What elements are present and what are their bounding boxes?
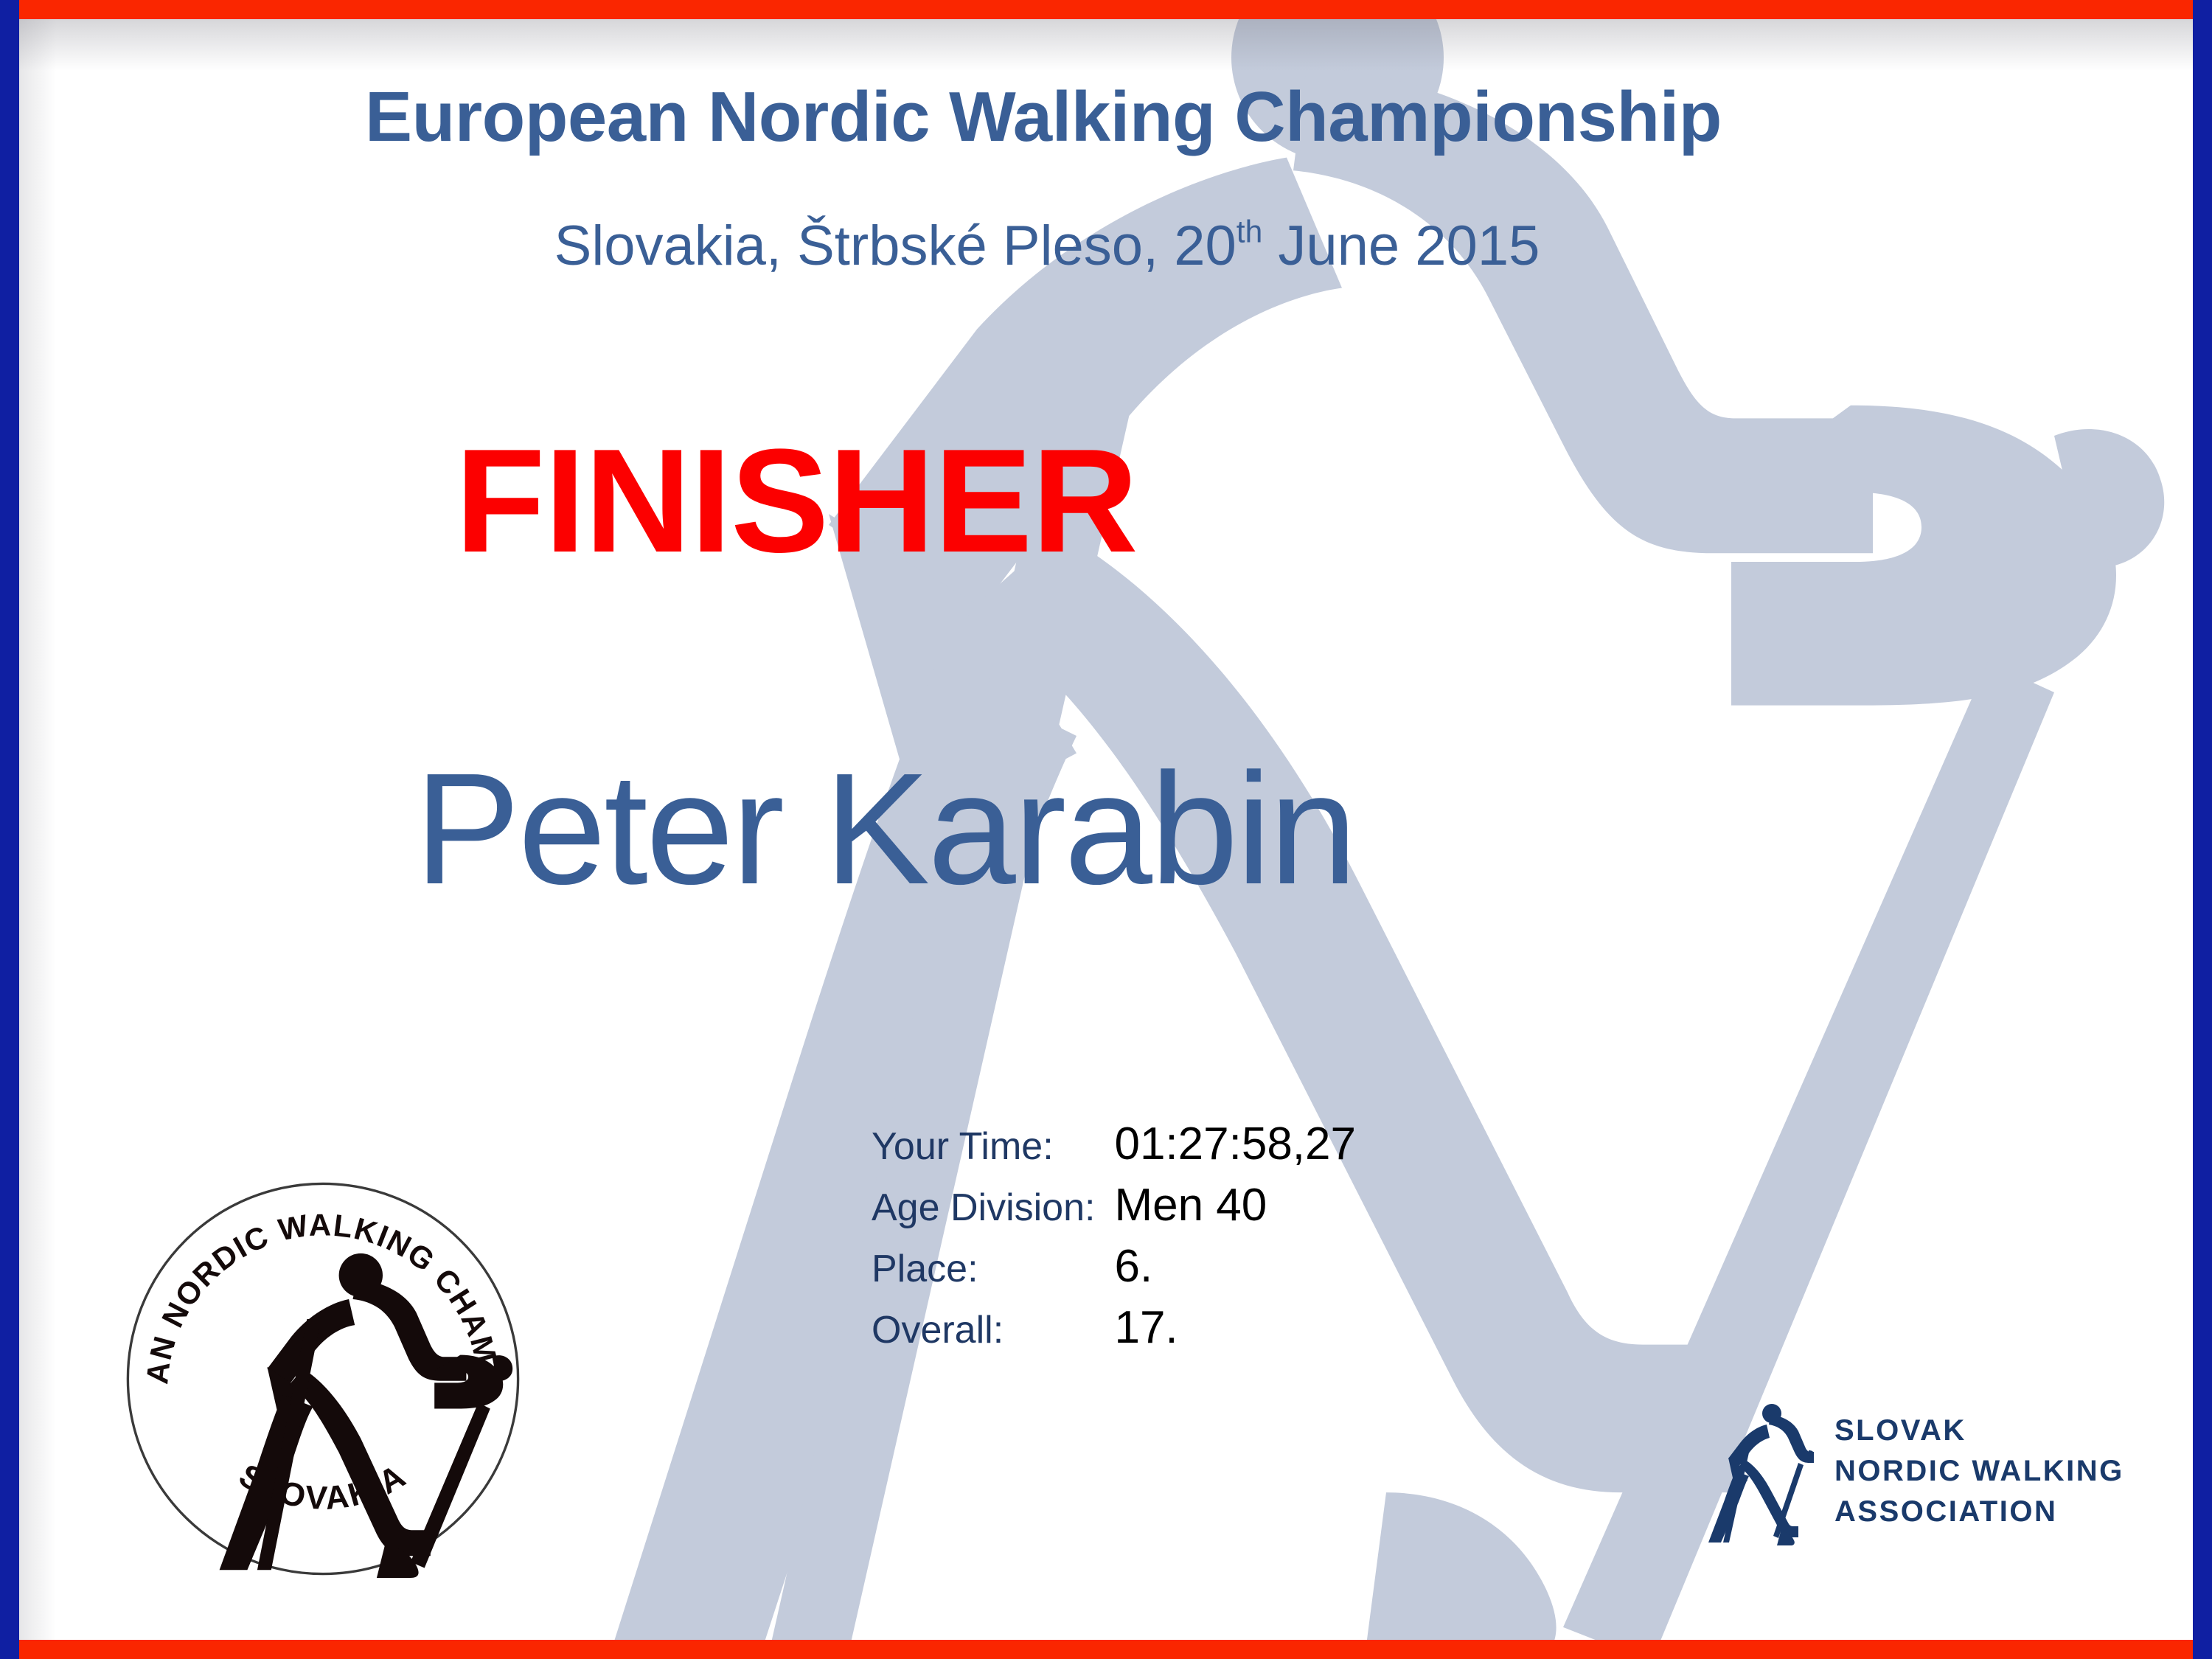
result-value-your-time: 01:27:58,27 (1114, 1115, 1356, 1176)
subtitle-location: Slovakia, Štrbské Pleso, 20 (554, 215, 1237, 277)
result-value-age-division: Men 40 (1114, 1176, 1356, 1237)
event-location-date: Slovakia, Štrbské Pleso, 20th June 2015 (0, 214, 2094, 278)
result-value-place: 6. (1114, 1237, 1356, 1298)
table-row: Your Time: 01:27:58,27 (872, 1115, 1356, 1176)
event-title: European Nordic Walking Championship (0, 77, 2087, 158)
snwa-logo-text: SLOVAK NORDIC WALKING ASSOCIATION (1834, 1411, 2124, 1533)
snwa-line-1: SLOVAK (1834, 1411, 2124, 1451)
result-label-age-division: Age Division: (872, 1176, 1114, 1237)
border-bottom-red (0, 1640, 2212, 1659)
result-label-your-time: Your Time: (872, 1115, 1114, 1176)
ordinal-suffix: th (1237, 214, 1262, 249)
results-block: Your Time: 01:27:58,27 Age Division: Men… (872, 1115, 1356, 1360)
snwa-logo: SLOVAK NORDIC WALKING ASSOCIATION (1703, 1392, 2131, 1551)
table-row: Overall: 17. (872, 1298, 1356, 1360)
table-row: Age Division: Men 40 (872, 1176, 1356, 1237)
snwa-line-3: ASSOCIATION (1834, 1492, 2124, 1532)
snwa-line-2: NORDIC WALKING (1834, 1451, 2124, 1492)
table-row: Place: 6. (872, 1237, 1356, 1298)
results-table: Your Time: 01:27:58,27 Age Division: Men… (872, 1115, 1356, 1360)
border-top-red (0, 0, 2212, 19)
subtitle-month-year: June 2015 (1262, 215, 1540, 277)
result-value-overall: 17. (1114, 1298, 1356, 1360)
athlete-name: Peter Karabin (0, 737, 1770, 920)
result-label-overall: Overall: (872, 1298, 1114, 1360)
certificate-canvas: European Nordic Walking Championship Slo… (0, 0, 2212, 1659)
border-left-blue (0, 0, 19, 1659)
enwc-championship-logo: EUROPEAN NORDIC WALKING CHAMPIONSHIP SLO… (124, 1180, 522, 1578)
award-heading: FINISHER (0, 417, 1593, 586)
result-label-place: Place: (872, 1237, 1114, 1298)
border-right-blue (2193, 0, 2212, 1659)
snwa-walker-icon (1703, 1398, 1814, 1545)
top-inner-shadow (19, 19, 2193, 71)
